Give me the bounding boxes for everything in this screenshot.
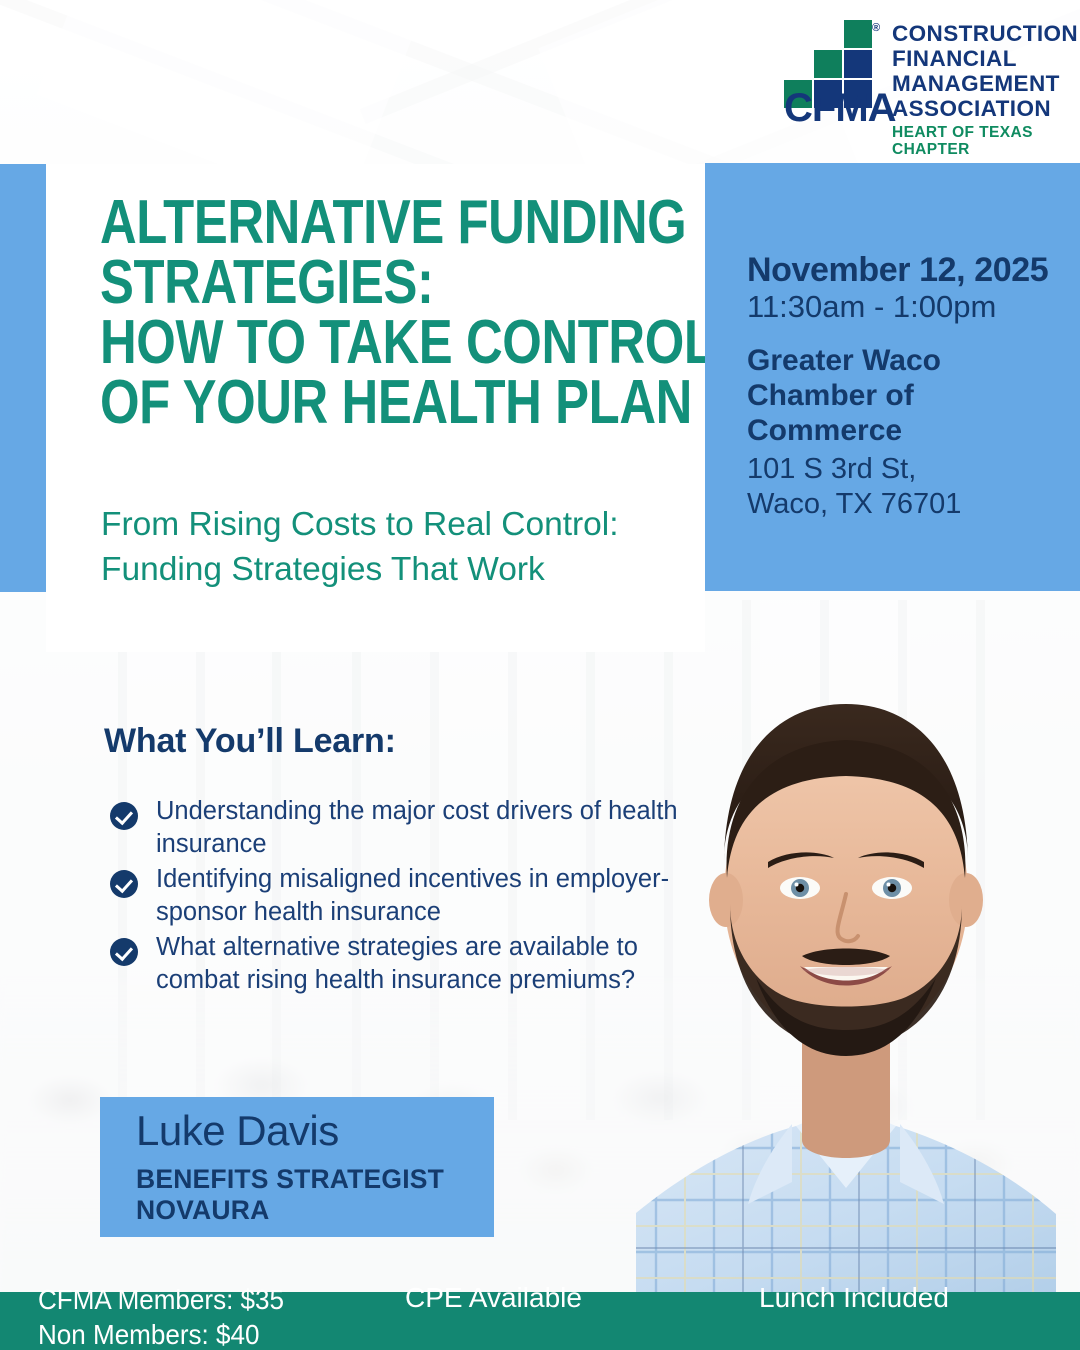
cfma-logo: ® CFMA CONSTRUCTION FINANCIAL MANAGEMENT… xyxy=(784,20,1060,152)
logo-word-line: CONSTRUCTION xyxy=(892,22,1078,47)
speaker-card: Luke Davis BENEFITS STRATEGIST NOVAURA xyxy=(100,1097,494,1237)
venue-line: Greater Waco xyxy=(747,343,1072,378)
event-date: November 12, 2025 xyxy=(747,251,1072,289)
title-line: STRATEGIES: xyxy=(100,253,592,313)
check-circle-icon xyxy=(110,938,138,966)
page-title: ALTERNATIVE FUNDING STRATEGIES: HOW TO T… xyxy=(100,193,592,434)
logo-word-line: MANAGEMENT xyxy=(892,72,1078,97)
cpe-info: CPE Available xyxy=(405,1282,582,1314)
logo-word-line: ASSOCIATION xyxy=(892,97,1078,122)
logo-square-navy xyxy=(844,50,872,78)
event-time: 11:30am - 1:00pm xyxy=(747,289,1072,326)
learn-heading: What You’ll Learn: xyxy=(104,722,396,761)
event-details-panel: November 12, 2025 11:30am - 1:00pm Great… xyxy=(705,163,1080,591)
speaker-company-label: NOVAURA xyxy=(136,1195,444,1226)
logo-wordmark: CONSTRUCTION FINANCIAL MANAGEMENT ASSOCI… xyxy=(892,22,1078,122)
event-flyer: ® CFMA CONSTRUCTION FINANCIAL MANAGEMENT… xyxy=(0,0,1080,1350)
speaker-headshot xyxy=(596,648,1080,1292)
title-line: ALTERNATIVE FUNDING xyxy=(100,193,592,253)
check-circle-icon xyxy=(110,802,138,830)
logo-chapter-line: CHAPTER xyxy=(892,141,1033,158)
footer-bar: CFMA Members: $35 Non Members: $40 CPE A… xyxy=(0,1292,1080,1350)
learn-list: Understanding the major cost drivers of … xyxy=(110,795,680,998)
subtitle-line: Funding Strategies That Work xyxy=(101,548,721,593)
speaker-role-label: BENEFITS STRATEGIST xyxy=(136,1164,444,1195)
speaker-name: Luke Davis xyxy=(136,1109,339,1153)
address-line: 101 S 3rd St, xyxy=(747,452,1072,487)
logo-square-green xyxy=(814,50,842,78)
title-line: OF YOUR HEALTH PLAN xyxy=(100,373,592,433)
speaker-headshot-illustration xyxy=(596,648,1080,1292)
list-item: Identifying misaligned incentives in emp… xyxy=(110,863,680,930)
address-line: Waco, TX 76701 xyxy=(747,487,1072,522)
logo-chapter-line: HEART OF TEXAS xyxy=(892,124,1033,141)
price-line: Non Members: $40 xyxy=(38,1317,284,1350)
list-item: What alternative strategies are availabl… xyxy=(110,931,680,998)
title-line: HOW TO TAKE CONTROL xyxy=(100,313,592,373)
venue-line: Chamber of xyxy=(747,378,1072,413)
page-subtitle: From Rising Costs to Real Control: Fundi… xyxy=(101,503,721,593)
speaker-title: BENEFITS STRATEGIST NOVAURA xyxy=(136,1164,444,1226)
registered-trademark-icon: ® xyxy=(872,22,880,34)
event-venue: Greater Waco Chamber of Commerce xyxy=(747,343,1072,448)
list-item: Understanding the major cost drivers of … xyxy=(110,795,680,862)
lunch-info: Lunch Included xyxy=(759,1282,949,1314)
event-address: 101 S 3rd St, Waco, TX 76701 xyxy=(747,452,1072,522)
logo-acronym: CFMA xyxy=(784,86,896,131)
left-blue-accent-bar xyxy=(0,164,46,592)
logo-chapter-name: HEART OF TEXAS CHAPTER xyxy=(892,124,1033,158)
check-circle-icon xyxy=(110,870,138,898)
title-panel: ALTERNATIVE FUNDING STRATEGIES: HOW TO T… xyxy=(46,164,705,652)
venue-line: Commerce xyxy=(747,413,1072,448)
subtitle-line: From Rising Costs to Real Control: xyxy=(101,503,721,548)
logo-word-line: FINANCIAL xyxy=(892,47,1078,72)
event-details: November 12, 2025 11:30am - 1:00pm Great… xyxy=(747,251,1072,522)
pricing-info: CFMA Members: $35 Non Members: $40 xyxy=(38,1282,284,1350)
logo-square-green xyxy=(844,20,872,48)
price-line: CFMA Members: $35 xyxy=(38,1282,284,1317)
